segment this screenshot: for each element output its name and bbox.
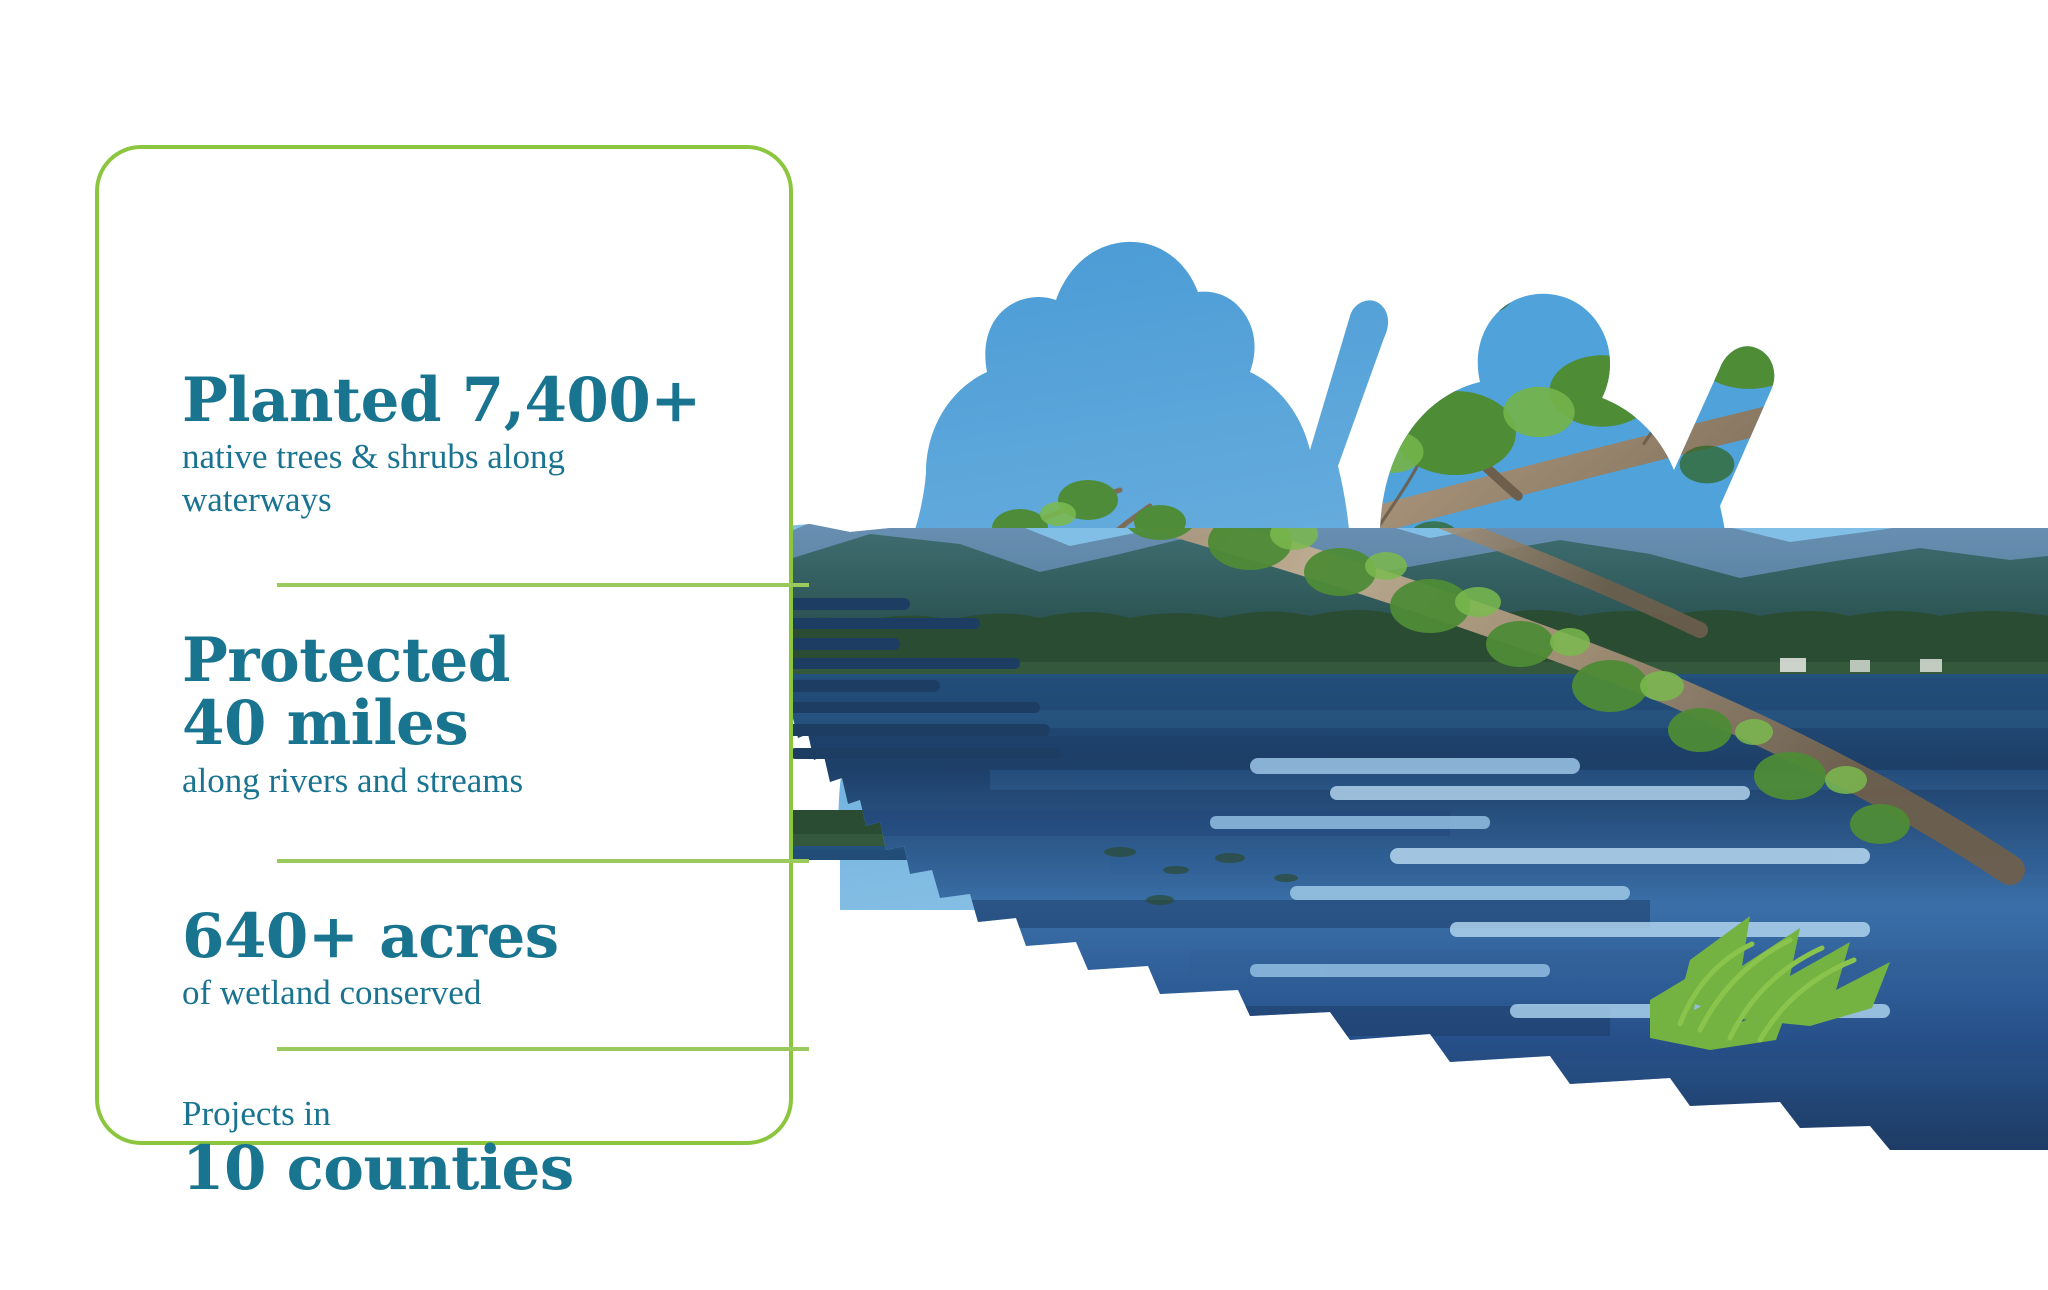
stat-block-planted: Planted 7,400+ native trees & shrubs alo… <box>182 369 722 522</box>
divider-1 <box>277 583 809 587</box>
stat-headline-planted: Planted 7,400+ <box>182 369 722 432</box>
stat-headline-counties: 10 counties <box>182 1137 722 1200</box>
infographic-root: Planted 7,400+ native trees & shrubs alo… <box>0 0 2048 1290</box>
stat-block-counties: Projects in 10 counties <box>182 1093 722 1200</box>
stats-panel: Planted 7,400+ native trees & shrubs alo… <box>95 145 793 1145</box>
artwork-svg <box>690 110 2048 1190</box>
stat-subtext-planted: native trees & shrubs along waterways <box>182 436 722 521</box>
stat-headline-protected: Protected 40 miles <box>182 629 722 756</box>
canoe-double-exposure-artwork <box>690 110 2048 1190</box>
divider-2 <box>277 859 809 863</box>
stat-headline-acres: 640+ acres <box>182 905 722 968</box>
stat-subtext-acres: of wetland conserved <box>182 972 722 1015</box>
divider-3 <box>277 1047 809 1051</box>
stat-block-protected: Protected 40 miles along rivers and stre… <box>182 629 722 803</box>
stat-subtext-protected: along rivers and streams <box>182 760 722 803</box>
stat-eyebrow-counties: Projects in <box>182 1093 722 1135</box>
stat-block-acres: 640+ acres of wetland conserved <box>182 905 722 1015</box>
